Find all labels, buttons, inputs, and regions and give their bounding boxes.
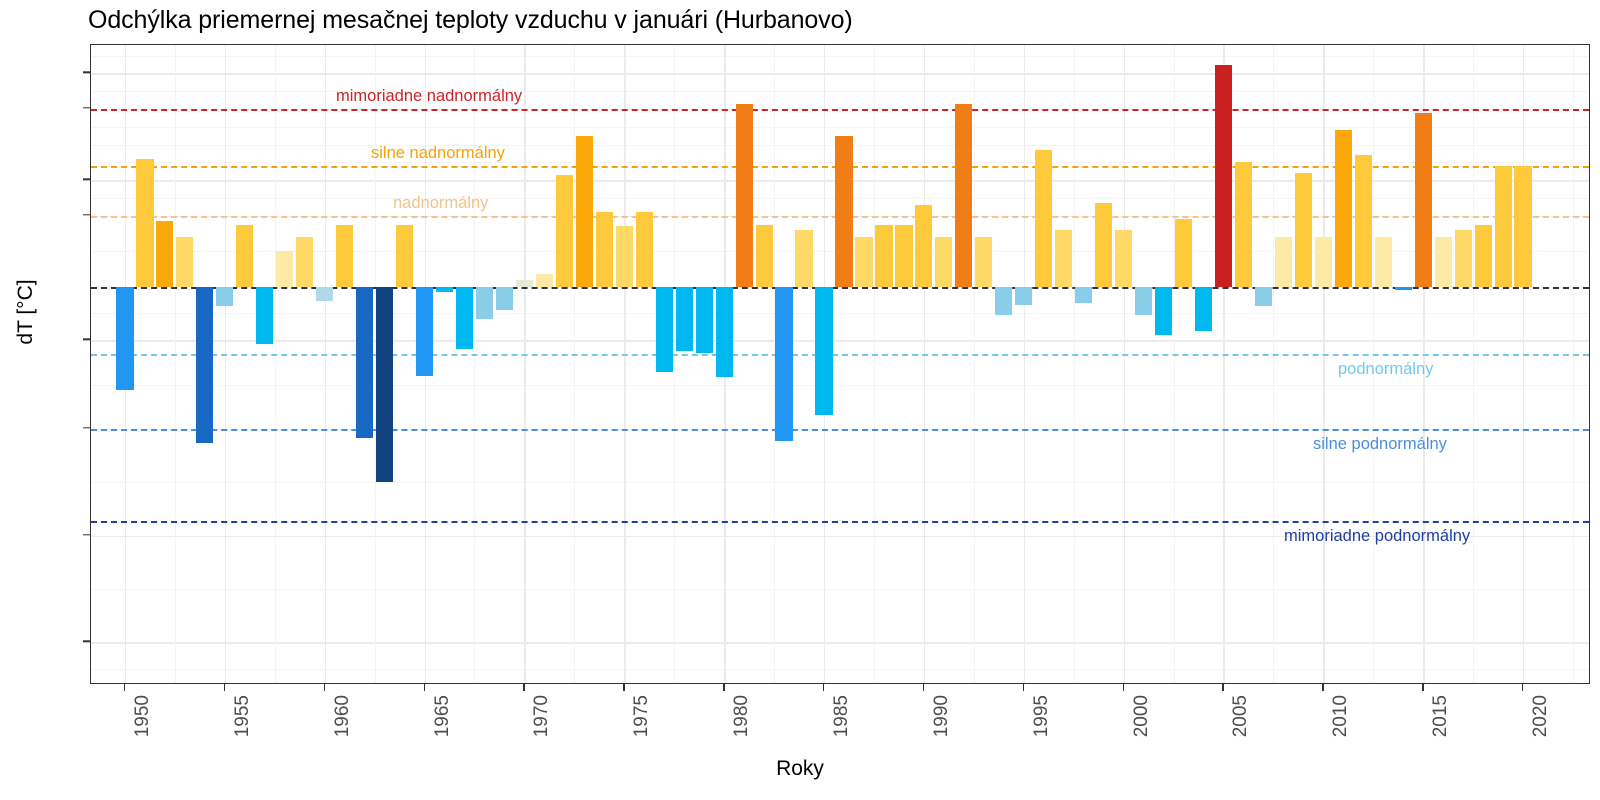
bar-1970 xyxy=(516,280,533,287)
threshold-line-mimoriadne-nadnormalny xyxy=(91,109,1589,111)
bar-1971 xyxy=(536,274,553,286)
bar-1965 xyxy=(416,287,433,376)
gridline-v-minor xyxy=(974,45,975,683)
x-tick-label: 1985 xyxy=(831,695,853,737)
x-tick-label: 1960 xyxy=(332,695,354,737)
x-tick-mark xyxy=(623,684,624,691)
bar-1983 xyxy=(775,287,792,442)
bar-2020 xyxy=(1514,166,1531,287)
bar-1987 xyxy=(855,237,872,287)
x-tick-mark xyxy=(1222,684,1223,691)
bar-2000 xyxy=(1115,230,1132,287)
bar-1955 xyxy=(216,287,233,307)
gridline-h-minor xyxy=(91,313,1589,314)
threshold-label-silne-podnormalny: silne podnormálny xyxy=(1313,435,1447,454)
x-tick-mark xyxy=(324,684,325,691)
bar-2013 xyxy=(1375,237,1392,287)
bar-1991 xyxy=(935,237,952,287)
gridline-h-minor xyxy=(91,385,1589,386)
y-tick-mark xyxy=(83,72,90,73)
bar-1979 xyxy=(696,287,713,353)
bar-1959 xyxy=(296,237,313,287)
gridline-v-minor xyxy=(1473,45,1474,683)
bar-1995 xyxy=(1015,287,1032,305)
x-tick-mark xyxy=(1522,684,1523,691)
x-tick-label: 2005 xyxy=(1230,695,1252,737)
gridline-v-major xyxy=(1024,45,1025,683)
y-tick-mark xyxy=(83,641,90,642)
bar-1986 xyxy=(835,136,852,287)
gridline-v-minor xyxy=(1573,45,1574,683)
bar-2012 xyxy=(1355,155,1372,287)
bar-1989 xyxy=(895,225,912,287)
x-tick-mark xyxy=(1023,684,1024,691)
x-tick-label: 2015 xyxy=(1430,695,1452,737)
bar-1990 xyxy=(915,205,932,287)
x-tick-label: 1970 xyxy=(531,695,553,737)
x-tick-mark xyxy=(124,684,125,691)
chart-root: Odchýlka priemernej mesačnej teploty vzd… xyxy=(0,0,1600,800)
x-tick-label: 1980 xyxy=(731,695,753,737)
x-tick-label: 1990 xyxy=(931,695,953,737)
bar-1958 xyxy=(276,251,293,287)
y-tick-mark xyxy=(83,107,90,108)
x-tick-mark xyxy=(1123,684,1124,691)
bar-2002 xyxy=(1155,287,1172,335)
y-tick-mark xyxy=(83,427,90,428)
bar-1961 xyxy=(336,225,353,287)
gridline-v-minor xyxy=(874,45,875,683)
bar-1980 xyxy=(716,287,733,378)
gridline-h-minor xyxy=(91,482,1589,483)
bar-1985 xyxy=(815,287,832,415)
x-tick-mark xyxy=(1422,684,1423,691)
y-tick-mark xyxy=(83,338,90,339)
bar-2016 xyxy=(1435,237,1452,287)
bar-2015 xyxy=(1415,113,1432,287)
bar-1977 xyxy=(656,287,673,372)
gridline-v-major xyxy=(1523,45,1524,683)
x-axis-title: Roky xyxy=(0,757,1600,781)
y-tick-mark xyxy=(83,214,90,215)
x-tick-mark xyxy=(1322,684,1323,691)
bar-1954 xyxy=(196,287,213,443)
bar-1950 xyxy=(116,287,133,390)
gridline-v-minor xyxy=(1174,45,1175,683)
bar-1978 xyxy=(676,287,693,351)
bar-2019 xyxy=(1495,166,1512,287)
bar-1963 xyxy=(376,287,393,483)
gridline-v-minor xyxy=(474,45,475,683)
bar-2010 xyxy=(1315,237,1332,287)
gridline-v-major xyxy=(325,45,326,683)
threshold-label-silne-nadnormalny: silne nadnormálny xyxy=(371,144,505,163)
bar-1967 xyxy=(456,287,473,349)
bar-1964 xyxy=(396,225,413,287)
x-tick-label: 2020 xyxy=(1530,695,1552,737)
bar-1997 xyxy=(1055,230,1072,287)
bar-1952 xyxy=(156,221,173,287)
threshold-label-mimoriadne-nadnormalny: mimoriadne nadnormálny xyxy=(336,87,522,106)
gridline-h-major xyxy=(91,642,1589,643)
threshold-label-mimoriadne-podnormalny: mimoriadne podnormálny xyxy=(1284,527,1470,546)
bar-2007 xyxy=(1255,287,1272,307)
bar-1968 xyxy=(476,287,493,319)
bar-1956 xyxy=(236,225,253,287)
bar-2001 xyxy=(1135,287,1152,315)
bar-1981 xyxy=(736,104,753,287)
x-tick-label: 2000 xyxy=(1131,695,1153,737)
bar-1982 xyxy=(756,225,773,287)
gridline-v-major xyxy=(624,45,625,683)
gridline-h-minor xyxy=(91,91,1589,92)
x-tick-mark xyxy=(224,684,225,691)
bar-2004 xyxy=(1195,287,1212,331)
y-tick-mark xyxy=(83,178,90,179)
gridline-h-minor xyxy=(91,127,1589,128)
bar-1996 xyxy=(1035,150,1052,287)
x-tick-mark xyxy=(923,684,924,691)
x-tick-mark xyxy=(424,684,425,691)
bar-2006 xyxy=(1235,162,1252,286)
gridline-v-minor xyxy=(1273,45,1274,683)
x-tick-mark xyxy=(823,684,824,691)
gridline-h-minor xyxy=(91,56,1589,57)
y-axis-title: dT [°C] xyxy=(14,252,38,372)
x-tick-label: 1955 xyxy=(232,695,254,737)
bar-1998 xyxy=(1075,287,1092,303)
threshold-line-podnormalny xyxy=(91,354,1589,356)
bar-2011 xyxy=(1335,130,1352,286)
bar-2003 xyxy=(1175,219,1192,287)
gridline-v-major xyxy=(924,45,925,683)
bar-2008 xyxy=(1275,237,1292,287)
bar-1974 xyxy=(596,212,613,287)
threshold-line-mimoriadne-podnormalny xyxy=(91,521,1589,523)
bar-2017 xyxy=(1455,230,1472,287)
threshold-label-podnormalny: podnormálny xyxy=(1338,360,1433,379)
bar-1969 xyxy=(496,287,513,310)
x-tick-label: 1975 xyxy=(631,695,653,737)
gridline-v-minor xyxy=(674,45,675,683)
gridline-h-minor xyxy=(91,669,1589,670)
gridline-v-major xyxy=(1323,45,1324,683)
x-tick-mark xyxy=(723,684,724,691)
bar-1966 xyxy=(436,287,453,292)
gridline-v-minor xyxy=(175,45,176,683)
bar-1984 xyxy=(795,230,812,287)
bar-2014 xyxy=(1395,287,1412,291)
threshold-line-silne-podnormalny xyxy=(91,429,1589,431)
bar-1960 xyxy=(316,287,333,301)
threshold-label-nadnormalny: nadnormálny xyxy=(393,194,488,213)
bar-2005 xyxy=(1215,65,1232,287)
bar-1975 xyxy=(616,226,633,286)
gridline-h-major xyxy=(91,340,1589,341)
gridline-v-major xyxy=(225,45,226,683)
x-tick-label: 1950 xyxy=(132,695,154,737)
x-tick-label: 1965 xyxy=(432,695,454,737)
bar-2009 xyxy=(1295,173,1312,287)
bar-1962 xyxy=(356,287,373,438)
gridline-v-major xyxy=(1124,45,1125,683)
plot-panel: mimoriadne nadnormálnysilne nadnormálnyn… xyxy=(90,44,1590,684)
bar-1973 xyxy=(576,136,593,287)
x-tick-mark xyxy=(523,684,524,691)
page-title: Odchýlka priemernej mesačnej teploty vzd… xyxy=(88,6,853,35)
bar-1992 xyxy=(955,104,972,287)
x-tick-label: 2010 xyxy=(1330,695,1352,737)
bar-1993 xyxy=(975,237,992,287)
bar-1972 xyxy=(556,175,573,287)
bar-1951 xyxy=(136,159,153,287)
gridline-v-major xyxy=(524,45,525,683)
bar-1976 xyxy=(636,212,653,287)
bar-1953 xyxy=(176,237,193,287)
bar-1994 xyxy=(995,287,1012,315)
y-tick-mark xyxy=(83,534,90,535)
bar-2018 xyxy=(1475,225,1492,287)
bar-1957 xyxy=(256,287,273,344)
x-tick-label: 1995 xyxy=(1031,695,1053,737)
gridline-v-minor xyxy=(275,45,276,683)
bar-1999 xyxy=(1095,203,1112,287)
gridline-v-minor xyxy=(1074,45,1075,683)
gridline-h-major xyxy=(91,73,1589,74)
bar-1988 xyxy=(875,225,892,287)
gridline-h-minor xyxy=(91,589,1589,590)
